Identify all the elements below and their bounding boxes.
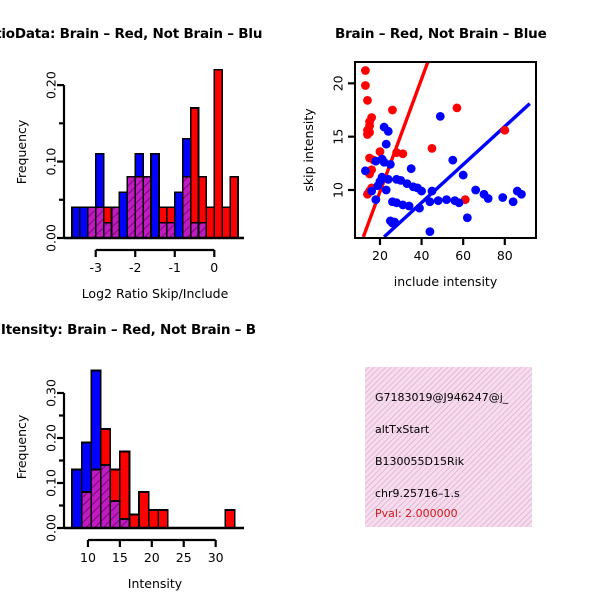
x-tick-label: 30 <box>208 550 224 565</box>
x-axis-label: Intensity <box>128 576 183 591</box>
hist-bar <box>158 510 168 528</box>
annotation-panel: G7183019@J946247@j_ altTxStart B130055D1… <box>365 367 532 527</box>
hist-bar <box>214 70 222 238</box>
data-point <box>517 190 526 199</box>
hist-bar-overlap <box>159 223 167 238</box>
annotation-pval: Pval: 2.000000 <box>375 507 458 520</box>
hist-bar-overlap <box>112 207 120 238</box>
intensity-histogram-svg: 0.000.100.200.301015202530IntensityFrequ… <box>0 350 300 600</box>
data-point <box>436 112 445 121</box>
hist-bar-overlap <box>96 207 104 238</box>
y-tick-label: 0.00 <box>44 224 59 252</box>
data-point <box>361 66 370 75</box>
data-point <box>428 187 437 196</box>
data-point <box>484 194 493 203</box>
x-tick-label: -3 <box>89 260 101 275</box>
y-axis-label: Frequency <box>14 414 29 479</box>
hist-bar-overlap <box>91 470 101 529</box>
annotation-line-gene: B130055D15Rik <box>375 455 464 468</box>
data-point <box>455 198 464 207</box>
hist-bar <box>151 154 159 238</box>
data-point <box>442 195 451 204</box>
data-point <box>376 147 385 156</box>
y-tick-label: 0.20 <box>44 71 59 99</box>
ratio-histogram-title: RatioData: Brain – Red, Not Brain – Blu <box>0 26 262 42</box>
data-point <box>448 156 457 165</box>
data-point <box>386 160 395 169</box>
data-point <box>463 213 472 222</box>
hist-bar-overlap <box>191 223 199 238</box>
x-tick-label: 25 <box>176 550 192 565</box>
data-point <box>453 103 462 112</box>
data-point <box>459 171 468 180</box>
scatter-title: Brain – Red, Not Brain – Blue <box>335 26 547 42</box>
data-point <box>382 140 391 149</box>
annotation-line-event: altTxStart <box>375 423 429 436</box>
x-tick-label: 60 <box>455 248 471 263</box>
hist-bar-overlap <box>110 501 120 528</box>
intensity-histogram-title: ne Itensity: Brain – Red, Not Brain – B <box>0 322 256 338</box>
plot-area <box>361 62 530 237</box>
data-point <box>388 219 397 228</box>
data-point <box>363 96 372 105</box>
ratio-histogram-svg: 0.000.100.20-3-2-10Log2 Ratio Skip/Inclu… <box>0 50 300 310</box>
hist-bar-overlap <box>82 492 92 528</box>
y-axis-label: Frequency <box>14 119 29 184</box>
data-point <box>500 126 509 135</box>
hist-bar <box>230 177 238 238</box>
hist-bar <box>149 510 159 528</box>
data-point <box>363 130 372 139</box>
data-point <box>378 155 387 164</box>
hist-bar-overlap <box>183 177 191 238</box>
x-tick-label: 10 <box>80 550 96 565</box>
data-point <box>361 166 370 175</box>
hist-bar-overlap <box>167 223 175 238</box>
hist-bar-overlap <box>104 223 112 238</box>
hist-bar <box>129 515 139 529</box>
hist-bar-overlap <box>120 519 130 528</box>
x-tick-label: -2 <box>129 260 141 275</box>
hist-bar <box>225 510 235 528</box>
y-tick-label: 0.10 <box>44 469 59 497</box>
x-tick-label: 20 <box>372 248 388 263</box>
annotation-line-id: G7183019@J946247@j_ <box>375 391 508 404</box>
y-tick-label: 0.20 <box>44 424 59 452</box>
hist-bar <box>206 207 214 238</box>
hist-bar <box>191 108 199 238</box>
hist-bar <box>120 452 130 529</box>
scatter-panel: 10152020406080include intensityskip inte… <box>300 50 600 310</box>
y-axis-label: skip intensity <box>301 108 316 192</box>
data-point <box>498 193 507 202</box>
x-tick-label: 0 <box>210 260 218 275</box>
hist-bar-overlap <box>135 177 143 238</box>
x-tick-label: 15 <box>112 550 128 565</box>
data-point <box>417 187 426 196</box>
y-tick-label: 10 <box>331 182 346 198</box>
data-point <box>382 186 391 195</box>
data-point <box>373 181 382 190</box>
data-point <box>371 195 380 204</box>
data-point <box>471 186 480 195</box>
x-axis-label: Log2 Ratio Skip/Include <box>82 286 229 301</box>
hist-bar <box>119 192 127 238</box>
data-point <box>384 175 393 184</box>
intensity-histogram-panel: 0.000.100.200.301015202530IntensityFrequ… <box>0 350 300 600</box>
hist-bar-overlap <box>88 207 96 238</box>
data-point <box>415 204 424 213</box>
x-tick-label: 40 <box>414 248 430 263</box>
scatter-svg: 10152020406080include intensityskip inte… <box>300 50 600 310</box>
x-tick-label: -1 <box>169 260 181 275</box>
data-point <box>384 127 393 136</box>
data-point <box>388 106 397 115</box>
hist-bar <box>175 192 183 238</box>
data-point <box>407 164 416 173</box>
data-point <box>398 149 407 158</box>
ratio-histogram-panel: 0.000.100.20-3-2-10Log2 Ratio Skip/Inclu… <box>0 50 300 310</box>
hist-bar-overlap <box>127 177 135 238</box>
hist-bar-overlap <box>101 465 111 528</box>
y-tick-label: 20 <box>331 75 346 91</box>
data-point <box>434 196 443 205</box>
data-point <box>361 81 370 90</box>
hist-bar <box>72 207 80 238</box>
data-point <box>367 113 376 122</box>
hist-bar <box>72 470 82 529</box>
hist-bar <box>139 492 149 528</box>
y-tick-label: 0.30 <box>44 379 59 407</box>
x-tick-label: 20 <box>144 550 160 565</box>
hist-bar-overlap <box>143 177 151 238</box>
x-axis-label: include intensity <box>394 274 498 289</box>
hist-bar <box>222 207 230 238</box>
data-point <box>509 197 518 206</box>
data-point <box>425 227 434 236</box>
data-point <box>428 144 437 153</box>
data-point <box>425 197 434 206</box>
hist-bar <box>80 207 88 238</box>
hist-bar-overlap <box>198 223 206 238</box>
y-tick-label: 0.10 <box>44 148 59 176</box>
data-point <box>405 202 414 211</box>
y-tick-label: 0.00 <box>44 514 59 542</box>
annotation-line-locus: chr9.25716–1.s <box>375 487 460 500</box>
y-tick-label: 15 <box>331 129 346 145</box>
x-tick-label: 80 <box>497 248 513 263</box>
